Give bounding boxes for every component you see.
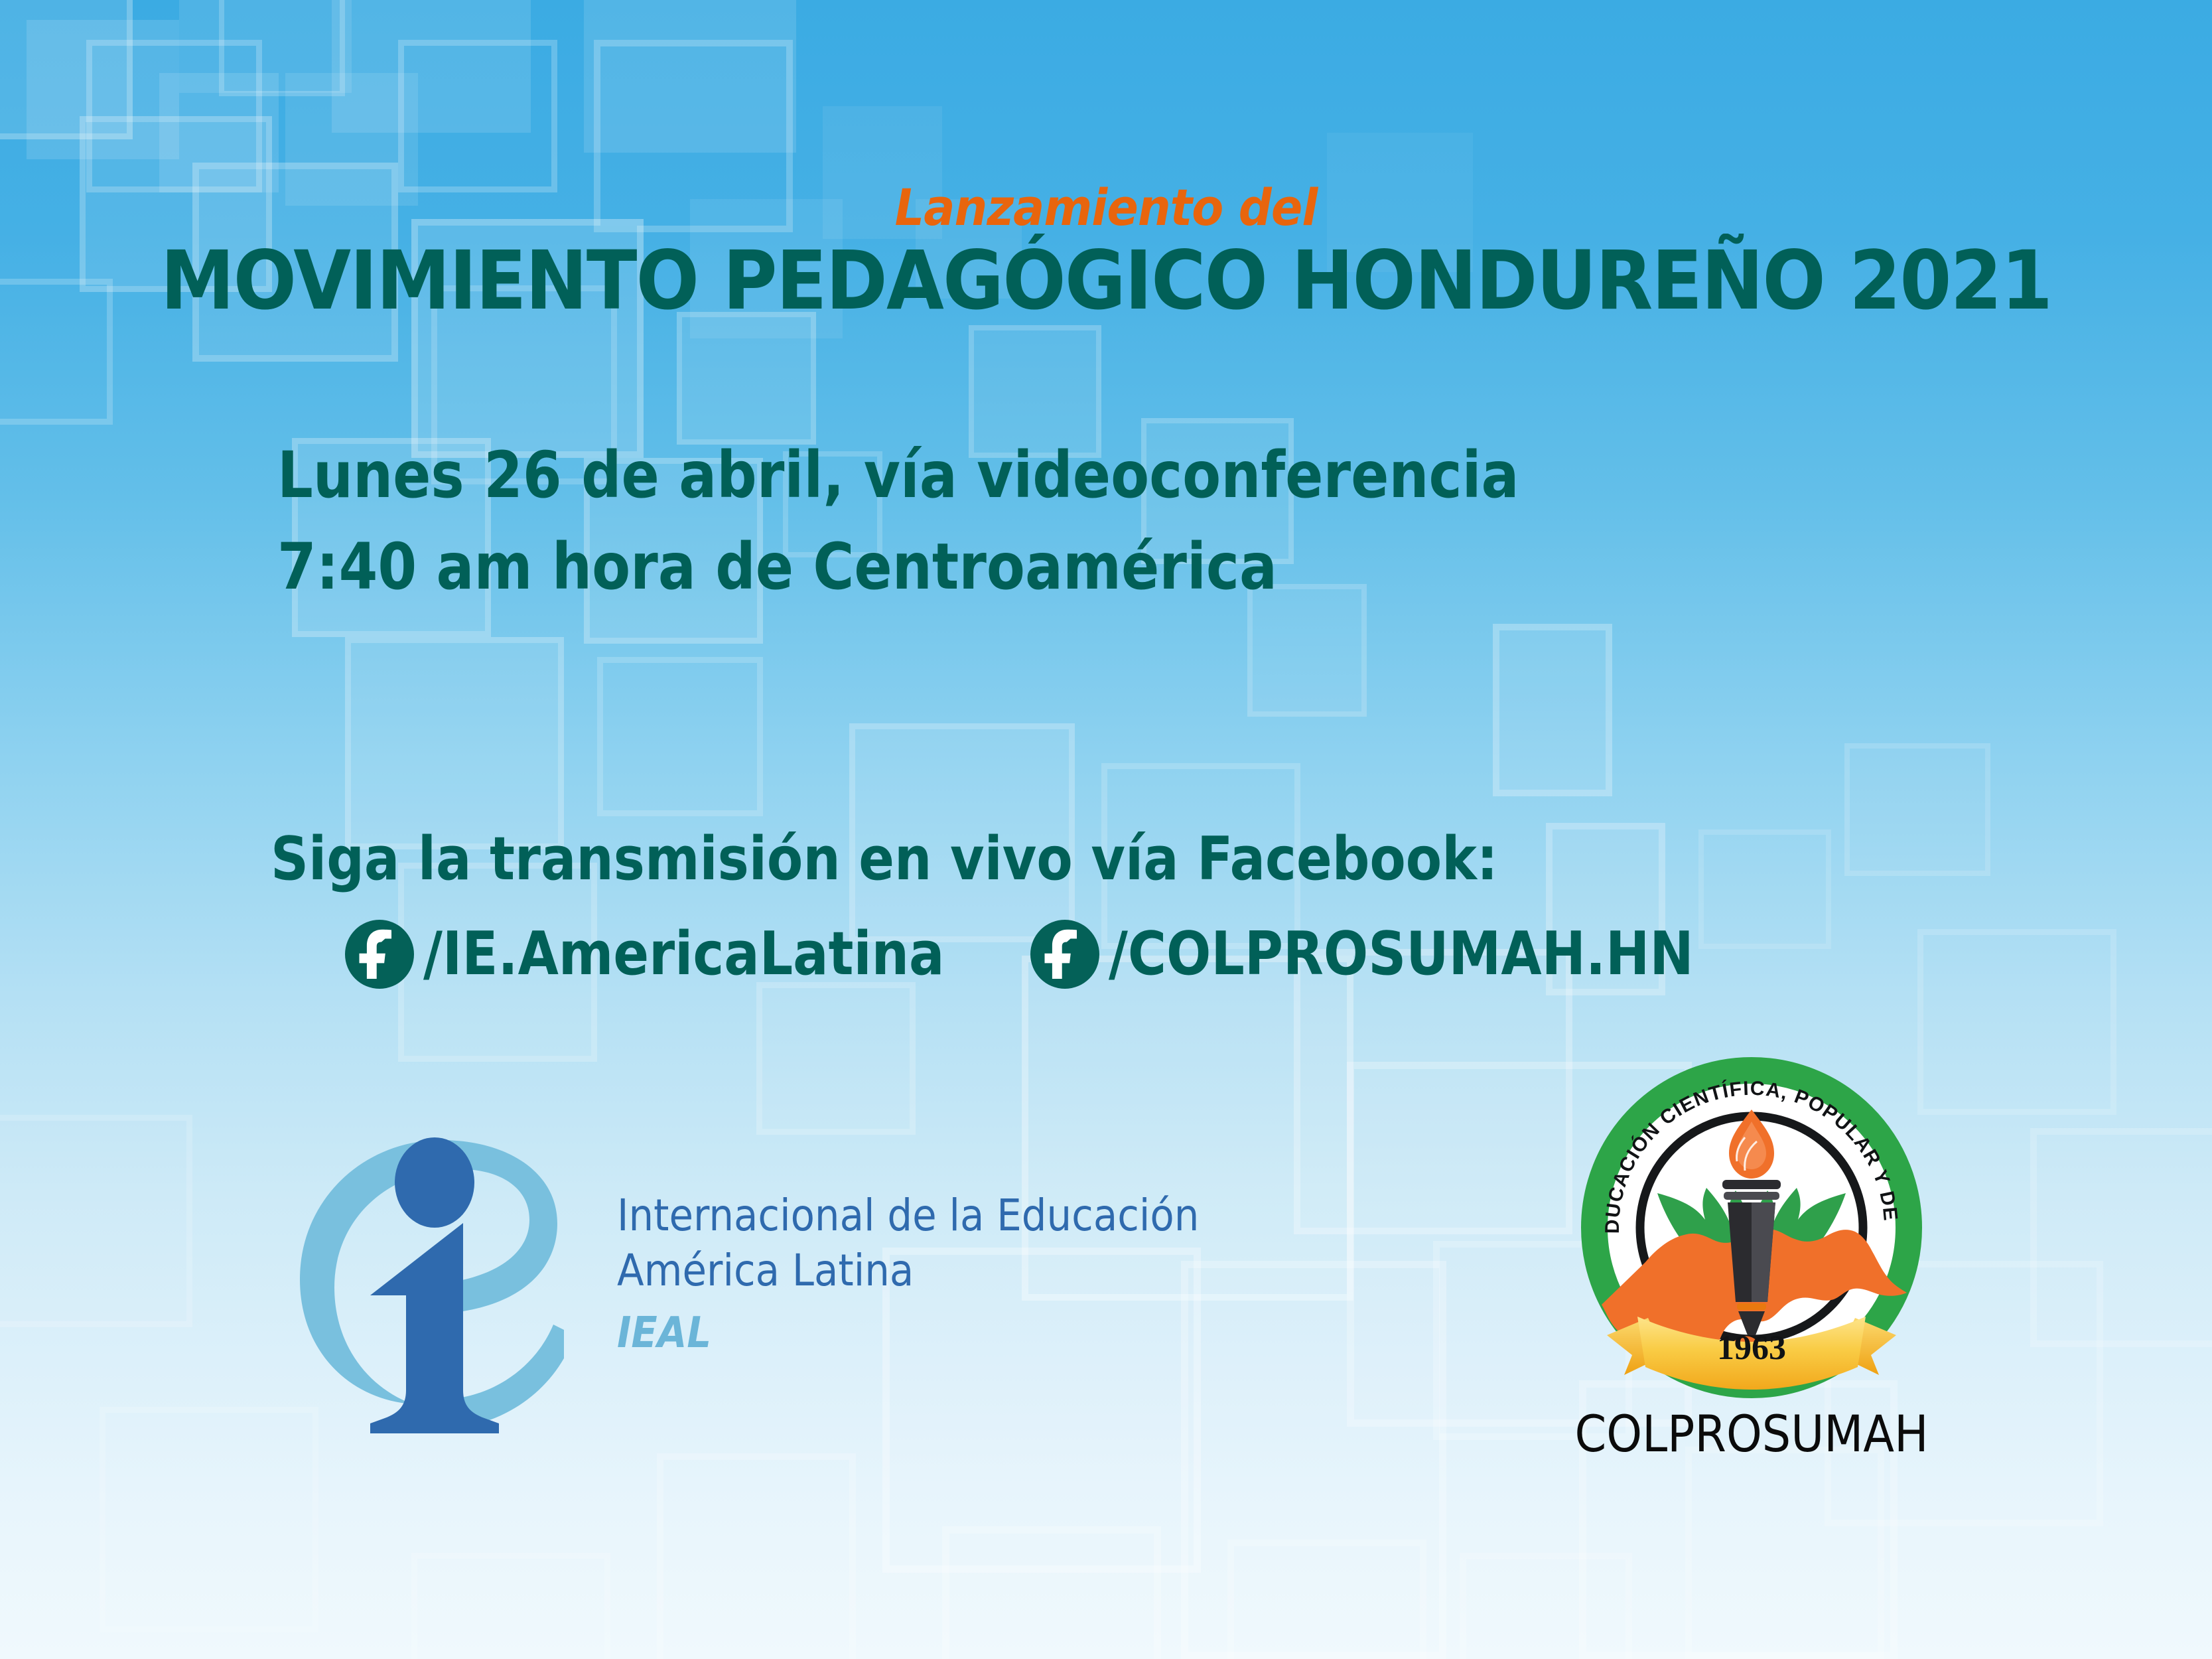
background-square — [0, 1115, 192, 1327]
background-square — [1493, 624, 1612, 796]
background-square — [942, 1526, 1161, 1659]
seal-founded-year: 1963 — [1717, 1329, 1786, 1367]
ieal-name-block: Internacional de la Educación América La… — [617, 1188, 1264, 1358]
ieal-name-line-1: Internacional de la Educación — [617, 1188, 1199, 1243]
background-square — [597, 657, 763, 816]
ieal-name-line-2: América Latina — [617, 1243, 1199, 1298]
page-title: MOVIMIENTO PEDAGÓGICO HONDUREÑO 2021 — [88, 234, 2123, 328]
background-square — [411, 1553, 610, 1659]
facebook-icon[interactable] — [1030, 920, 1099, 989]
event-kicker: Lanzamiento del — [88, 178, 2123, 237]
background-square — [1227, 1540, 1426, 1659]
ieal-i-logo-icon — [285, 1128, 564, 1433]
event-date: Lunes 26 de abril, vía videoconferencia — [277, 438, 1519, 512]
ieal-abbreviation: IEAL — [617, 1309, 1199, 1358]
colprosumah-name: COLPROSUMAH — [1566, 1404, 1937, 1463]
background-square — [677, 312, 816, 445]
background-square — [756, 982, 916, 1135]
background-square — [1460, 1553, 1632, 1659]
poster-canvas: Lanzamiento del MOVIMIENTO PEDAGÓGICO HO… — [0, 0, 2212, 1659]
colprosumah-branding: POR UNA EDUCACIÓN CIENTÍFICA, POPULAR Y … — [1546, 1029, 1970, 1506]
broadcast-prompt: Siga la transmisión en vivo vía Facebook… — [271, 824, 1498, 894]
colprosumah-seal-icon: POR UNA EDUCACIÓN CIENTÍFICA, POPULAR Y … — [1546, 1029, 1957, 1400]
background-square — [1247, 584, 1367, 717]
event-time: 7:40 am hora de Centroamérica — [277, 530, 1277, 604]
background-square — [398, 40, 557, 192]
facebook-handle-colprosumah[interactable]: /COLPROSUMAH.HN — [1109, 919, 1694, 989]
background-square — [2030, 1128, 2212, 1347]
background-square — [657, 1453, 856, 1659]
background-square — [1844, 743, 1990, 876]
facebook-links-row: /IE.AmericaLatina /COLPROSUMAH.HN — [345, 919, 1770, 989]
background-square — [345, 637, 564, 849]
facebook-handle-ieal[interactable]: /IE.AmericaLatina — [423, 919, 944, 989]
facebook-icon[interactable] — [345, 920, 414, 989]
ieal-branding: Internacional de la Educación América La… — [285, 1128, 1115, 1447]
